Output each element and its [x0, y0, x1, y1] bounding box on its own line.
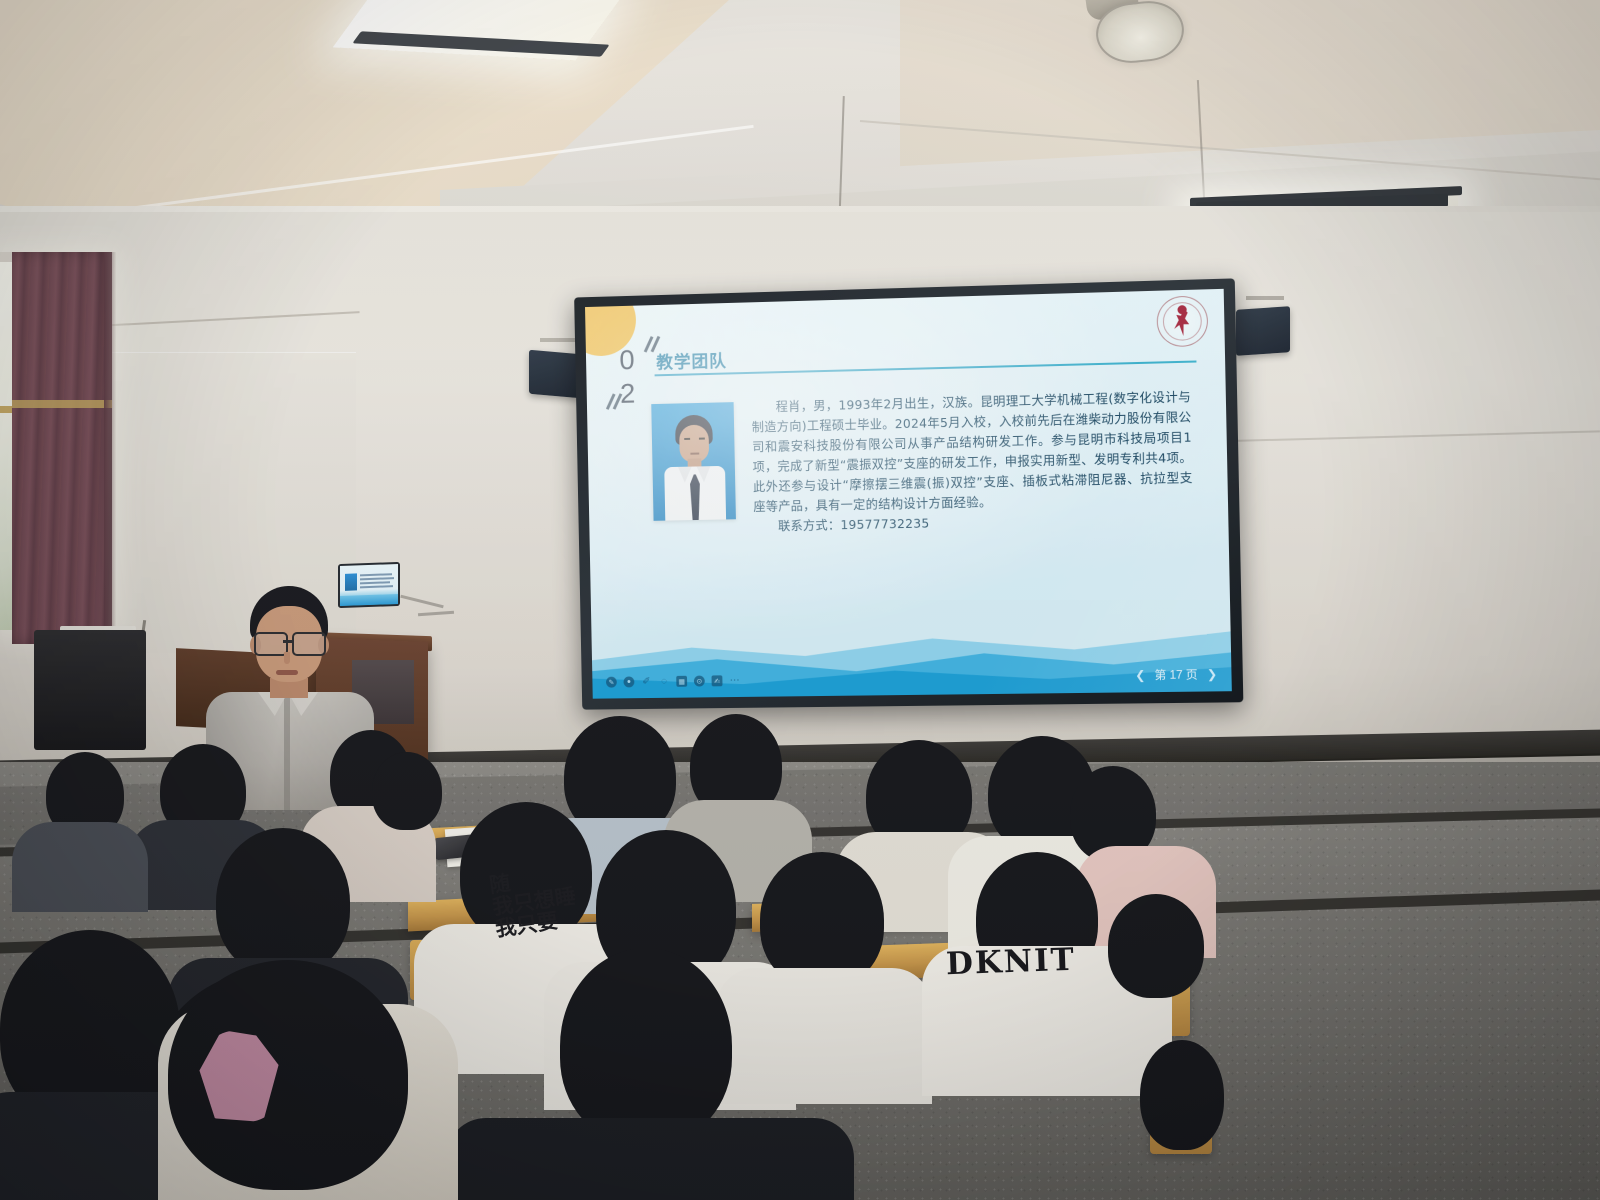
presentation-toolbar[interactable]: ✎ ● ✐ ◌ ▦ ⊙ ✍ ⋯: [606, 675, 740, 688]
more-icon[interactable]: ⋯: [729, 675, 740, 686]
audience-shoulders: [716, 968, 932, 1104]
lecture-hall-photo: 0 2 教学团队: [0, 0, 1600, 1200]
shirt-english-text: DKNIT: [945, 942, 1076, 983]
next-slide-icon[interactable]: ❯: [1207, 667, 1218, 681]
presenter-mouth: [276, 670, 298, 675]
mini-text-line: [360, 577, 394, 580]
mini-text-line: [360, 573, 392, 576]
annotate-icon[interactable]: ✍: [711, 675, 722, 686]
slide-view-icon[interactable]: ▦: [676, 676, 687, 687]
presenter-nose: [284, 652, 290, 664]
page-indicator: 第 17 页: [1154, 666, 1197, 683]
audience-head: [216, 828, 350, 976]
university-emblem-icon: [1156, 295, 1208, 347]
powerpoint-slide[interactable]: 0 2 教学团队: [585, 289, 1232, 699]
pen-icon[interactable]: ✎: [606, 677, 617, 688]
presentation-display[interactable]: 0 2 教学团队: [574, 278, 1243, 709]
curtain-edge: [104, 252, 116, 644]
curtain-tieback: [12, 400, 112, 408]
audience-head: [372, 752, 442, 830]
portrait-face: [679, 425, 709, 463]
audience-head: [1108, 894, 1204, 998]
portrait-eye: [684, 438, 690, 440]
zoom-icon[interactable]: ⊙: [694, 676, 705, 687]
display-screen[interactable]: 0 2 教学团队: [585, 289, 1232, 699]
wall-top-edge: [0, 206, 1600, 212]
shirt-chinese-text: 随 我只想睡 我只要: [488, 862, 588, 940]
header-rule: [655, 360, 1197, 376]
previous-slide-icon[interactable]: ❮: [1135, 668, 1146, 682]
av-equipment-cabinet: [34, 630, 146, 750]
eyeglasses-icon: [292, 632, 326, 656]
audience-shoulders: [446, 1118, 854, 1200]
left-wall-speaker: [529, 350, 581, 399]
eyeglasses-icon: [254, 632, 288, 656]
shirt-placket: [284, 696, 290, 810]
highlighter-icon[interactable]: ✐: [641, 676, 652, 687]
slide-header-title: 教学团队: [656, 347, 727, 374]
bio-paragraph: 程肖，男，1993年2月出生，汉族。昆明理工大学机械工程(数字化设计与制造方向)…: [751, 387, 1193, 517]
portrait-mouth: [690, 453, 699, 455]
window-curtain: [12, 252, 112, 644]
slide-page-navigation[interactable]: ❮ 第 17 页 ❯: [1135, 666, 1217, 683]
speaker-bracket: [1246, 296, 1284, 300]
laser-pointer-icon[interactable]: ●: [623, 676, 634, 687]
eraser-icon[interactable]: ◌: [659, 676, 670, 687]
right-wall-speaker: [1236, 306, 1290, 356]
slide-body-text: 程肖，男，1993年2月出生，汉族。昆明理工大学机械工程(数字化设计与制造方向)…: [751, 387, 1193, 537]
section-number: 0: [607, 343, 647, 378]
audience-head: [560, 948, 732, 1144]
section-number-second-digit: 2: [608, 377, 648, 412]
audience-shoulders: [12, 822, 148, 912]
portrait-photo: [651, 402, 736, 521]
portrait-eye: [699, 438, 705, 440]
eyeglasses-bridge: [283, 640, 294, 643]
audience-head: [1140, 1040, 1224, 1150]
